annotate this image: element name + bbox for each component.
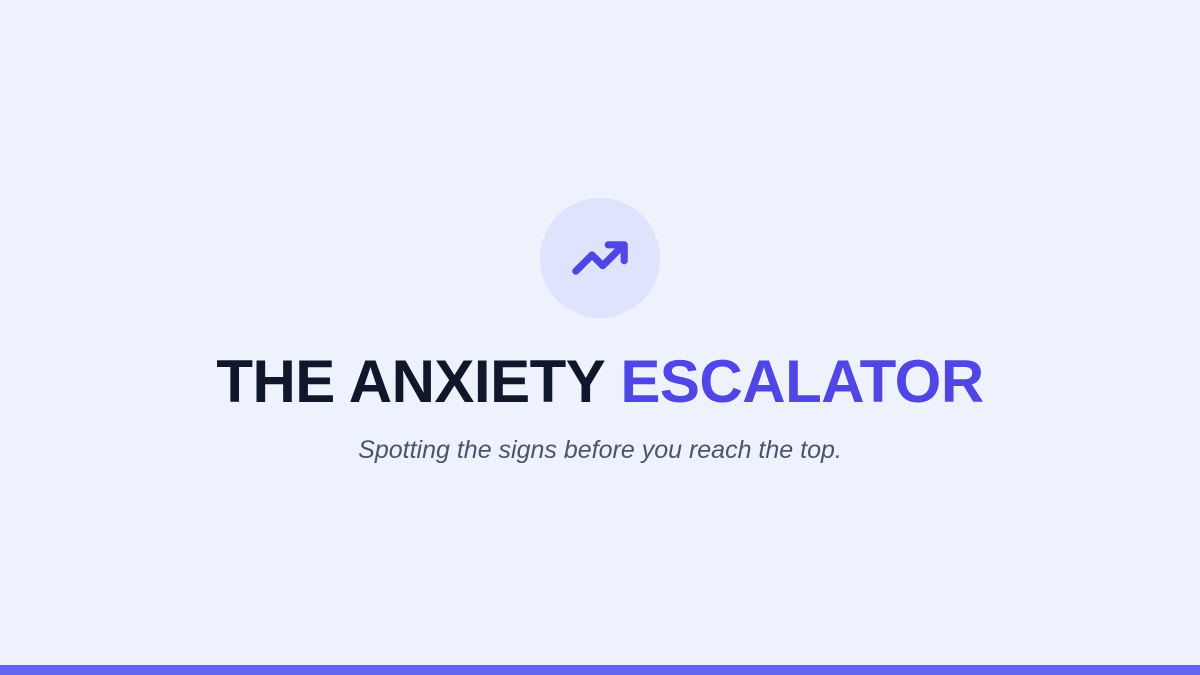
page-title: THE ANXIETY ESCALATOR (216, 352, 983, 412)
slide-content: THE ANXIETY ESCALATOR Spotting the signs… (0, 0, 1200, 665)
trending-up-icon (567, 225, 633, 291)
title-slide: THE ANXIETY ESCALATOR Spotting the signs… (0, 0, 1200, 675)
icon-badge (540, 198, 660, 318)
title-primary-text: THE ANXIETY (216, 348, 604, 415)
subtitle-text: Spotting the signs before you reach the … (358, 434, 842, 467)
bottom-accent-bar (0, 665, 1200, 675)
title-accent-text: ESCALATOR (604, 348, 983, 415)
